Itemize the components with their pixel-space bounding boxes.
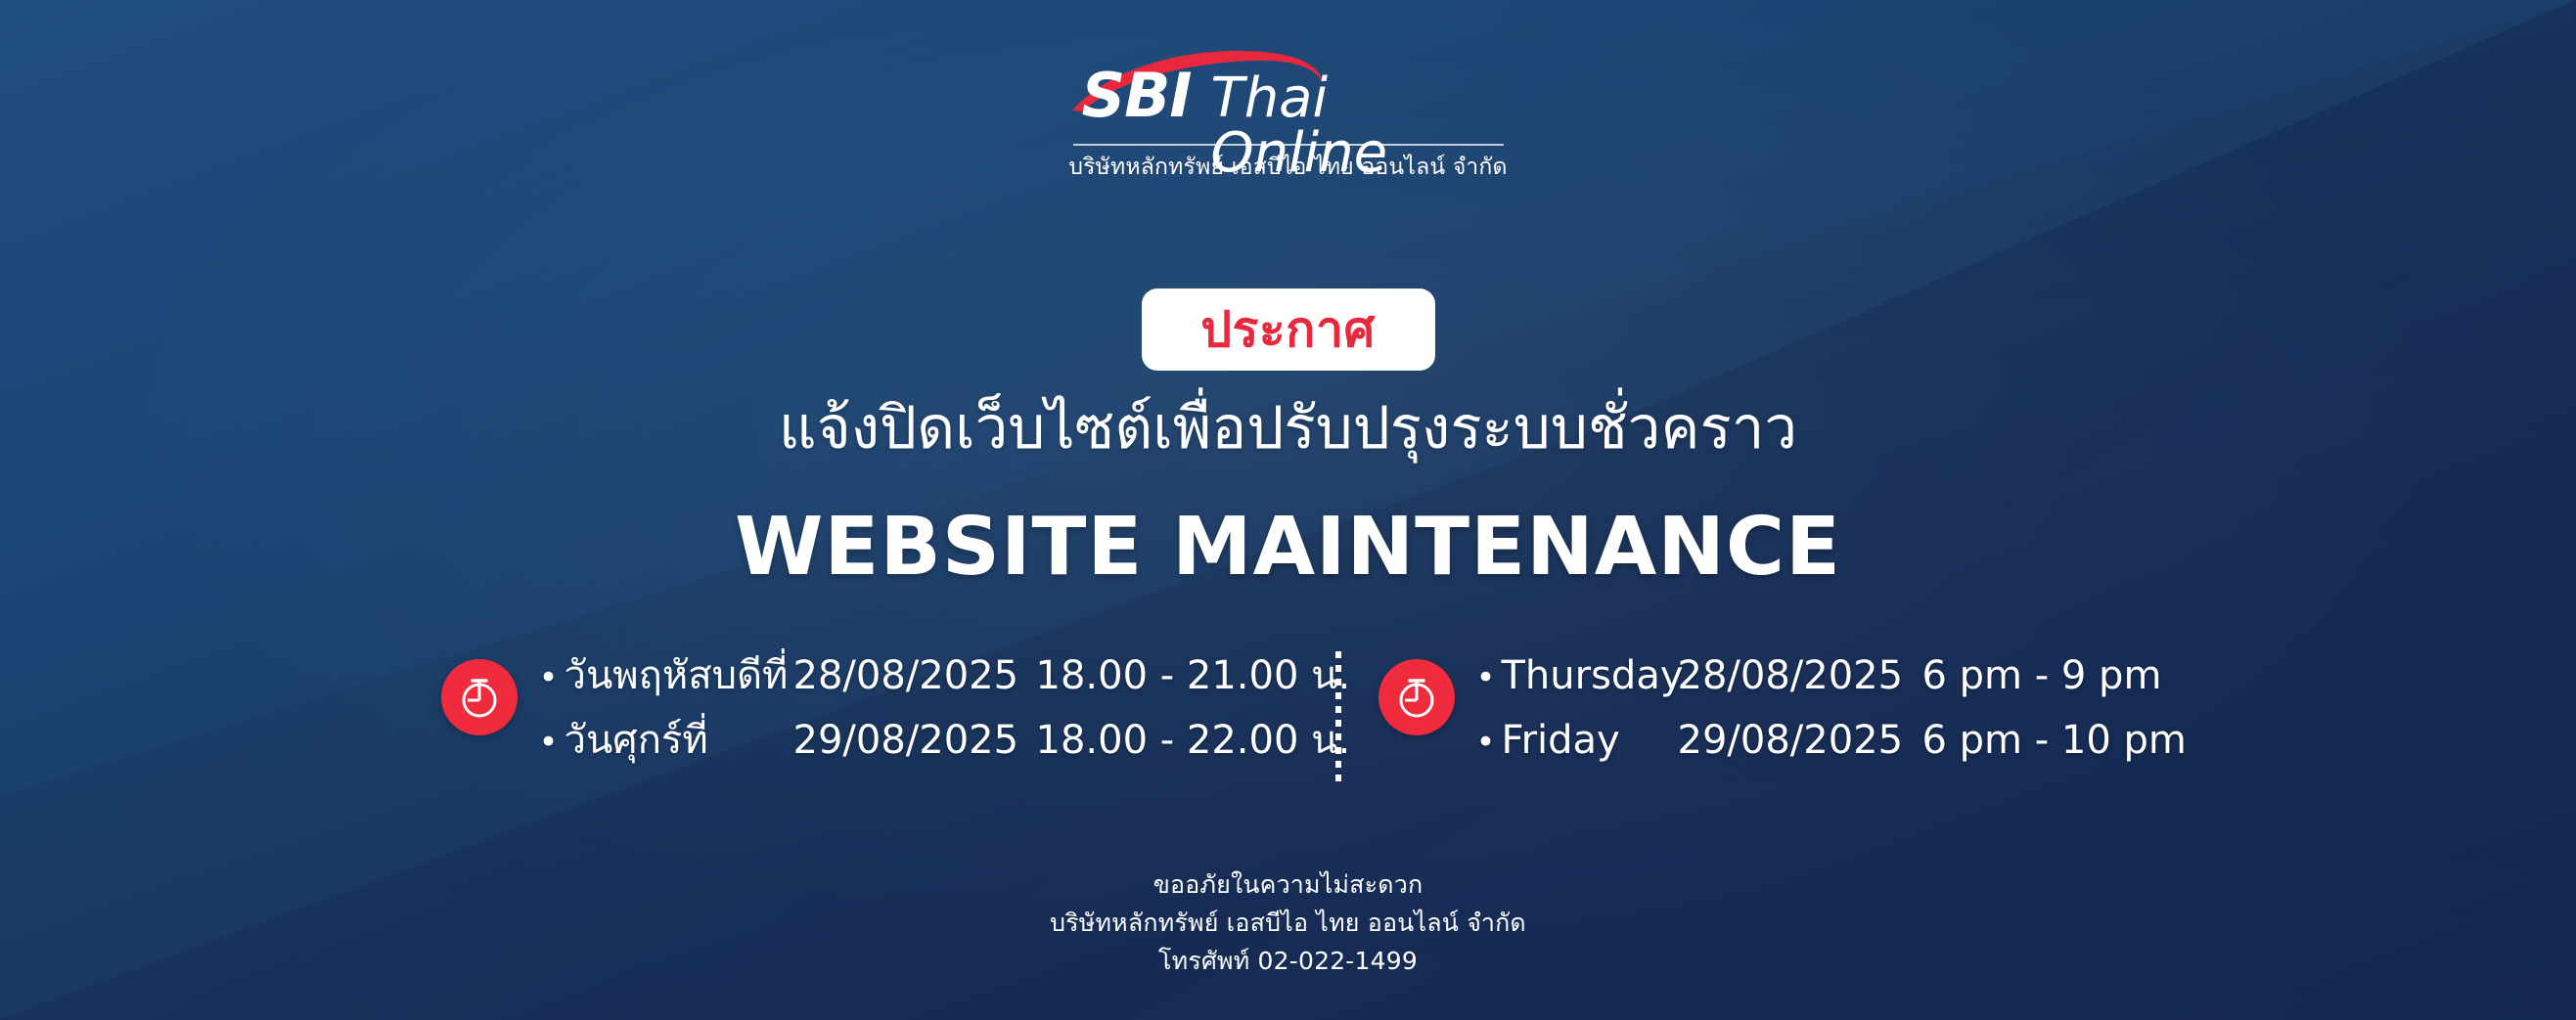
headline-english: WEBSITE MAINTENANCE — [0, 501, 2576, 595]
footer-phone-line: โทรศัพท์ 02-022-1499 — [0, 942, 2576, 980]
schedule-row: • วันศุกร์ที่ 29/08/2025 18.00 - 22.00 น… — [539, 710, 1298, 773]
bullet-icon: • — [1476, 647, 1502, 708]
stopwatch-glyph — [1392, 673, 1441, 722]
logo-wordmark: SBI Thai Online — [1082, 66, 1507, 181]
announcement-badge-label: ประกาศ — [1200, 305, 1376, 354]
logo-mark: SBI Thai Online — [1070, 54, 1507, 140]
schedule-date: 28/08/2025 — [1678, 645, 1922, 706]
announcement-badge: ประกาศ — [1142, 288, 1435, 371]
bullet-icon: • — [1476, 712, 1502, 773]
stopwatch-glyph — [455, 673, 504, 722]
bullet-icon: • — [539, 712, 565, 773]
schedule-day: Friday — [1502, 710, 1666, 771]
stopwatch-icon-wrap-english — [1378, 659, 1455, 735]
schedule-date: 29/08/2025 — [793, 710, 1036, 771]
schedule-row: • วันพฤหัสบดีที่ 28/08/2025 18.00 - 21.0… — [539, 645, 1298, 708]
schedule-time: 18.00 - 22.00 น. — [1036, 710, 1298, 771]
stopwatch-icon-wrap-thai — [441, 659, 518, 735]
schedule-time: 18.00 - 21.00 น. — [1036, 645, 1298, 706]
schedule-day: วันพฤหัสบดีที่ — [565, 645, 782, 706]
schedule-date: 28/08/2025 — [793, 645, 1036, 706]
maintenance-schedule: • วันพฤหัสบดีที่ 28/08/2025 18.00 - 21.0… — [0, 645, 2576, 802]
schedule-date: 29/08/2025 — [1678, 710, 1922, 771]
sbi-thai-online-logo: SBI Thai Online บริษัทหลักทรัพย์ เอสบีไอ… — [0, 54, 2576, 181]
schedule-rows-thai: • วันพฤหัสบดีที่ 28/08/2025 18.00 - 21.0… — [539, 645, 1298, 773]
schedule-time: 6 pm - 9 pm — [1922, 645, 2136, 706]
stopwatch-icon — [441, 659, 518, 735]
schedule-column-english: • Thursday 28/08/2025 6 pm - 9 pm • Frid… — [1378, 645, 2136, 773]
schedule-time: 6 pm - 10 pm — [1922, 710, 2136, 771]
schedule-day: Thursday — [1502, 645, 1666, 706]
headline-thai: แจ้งปิดเว็บไซต์เพื่อปรับปรุงระบบชั่วคราว — [0, 391, 2576, 466]
column-dotted-divider — [1335, 651, 1341, 786]
logo-sbi-text: SBI — [1082, 66, 1192, 126]
stopwatch-icon — [1378, 659, 1455, 735]
schedule-day: วันศุกร์ที่ — [565, 710, 782, 771]
logo-thai-online-text: Thai Online — [1210, 71, 1506, 181]
footer-contact: ขออภัยในความไม่สะดวก บริษัทหลักทรัพย์ เอ… — [0, 865, 2576, 980]
footer-company-line: บริษัทหลักทรัพย์ เอสบีไอ ไทย ออนไลน์ จำก… — [0, 904, 2576, 942]
bullet-icon: • — [539, 647, 565, 708]
schedule-column-thai: • วันพฤหัสบดีที่ 28/08/2025 18.00 - 21.0… — [441, 645, 1298, 773]
schedule-rows-english: • Thursday 28/08/2025 6 pm - 9 pm • Frid… — [1476, 645, 2136, 773]
schedule-row: • Thursday 28/08/2025 6 pm - 9 pm — [1476, 645, 2136, 708]
schedule-row: • Friday 29/08/2025 6 pm - 10 pm — [1476, 710, 2136, 773]
footer-apology-line: ขออภัยในความไม่สะดวก — [0, 865, 2576, 904]
maintenance-announcement-banner: SBI Thai Online บริษัทหลักทรัพย์ เอสบีไอ… — [0, 0, 2576, 1020]
